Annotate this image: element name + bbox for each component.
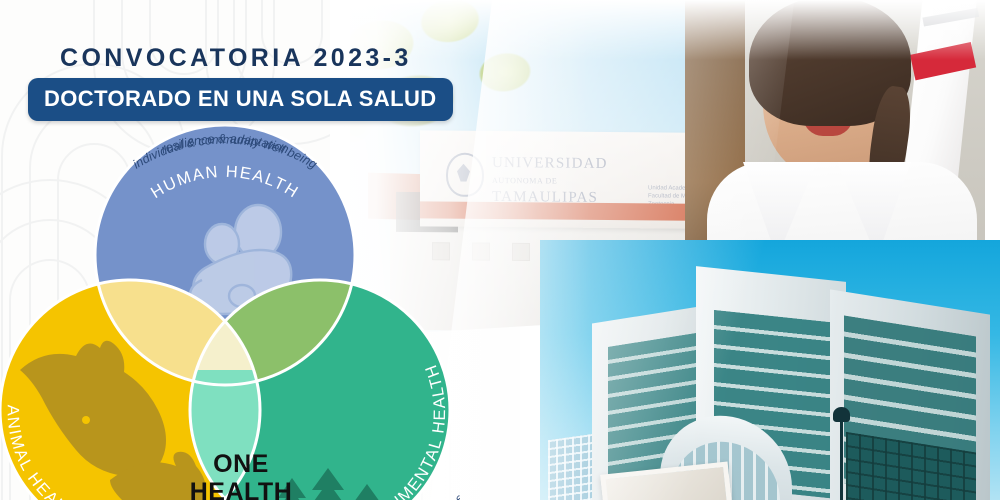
one-health-venn-diagram: resilience & adaptation individual & com… bbox=[0, 120, 460, 500]
sign-line-1: UNIVERSIDAD bbox=[492, 155, 608, 172]
poster-canvas: UNIVERSIDAD AUTONOMA DE TAMAULIPAS Unida… bbox=[0, 0, 1000, 500]
center-label-line-1: ONE bbox=[186, 450, 296, 478]
university-sign-text: UNIVERSIDAD AUTONOMA DE TAMAULIPAS bbox=[492, 155, 608, 207]
tower-right bbox=[830, 289, 990, 500]
program-badge: DOCTORADO EN UNA SOLA SALUD bbox=[28, 78, 453, 121]
center-label-line-2: HEALTH bbox=[186, 478, 296, 500]
sign-line-2: AUTONOMA DE bbox=[492, 172, 608, 190]
one-health-center-label: ONE HEALTH bbox=[186, 450, 296, 500]
page-title: CONVOCATORIA 2023-3 bbox=[60, 44, 412, 73]
modern-campus-towers-photo bbox=[540, 240, 1000, 500]
street-lamp-icon bbox=[840, 420, 843, 500]
